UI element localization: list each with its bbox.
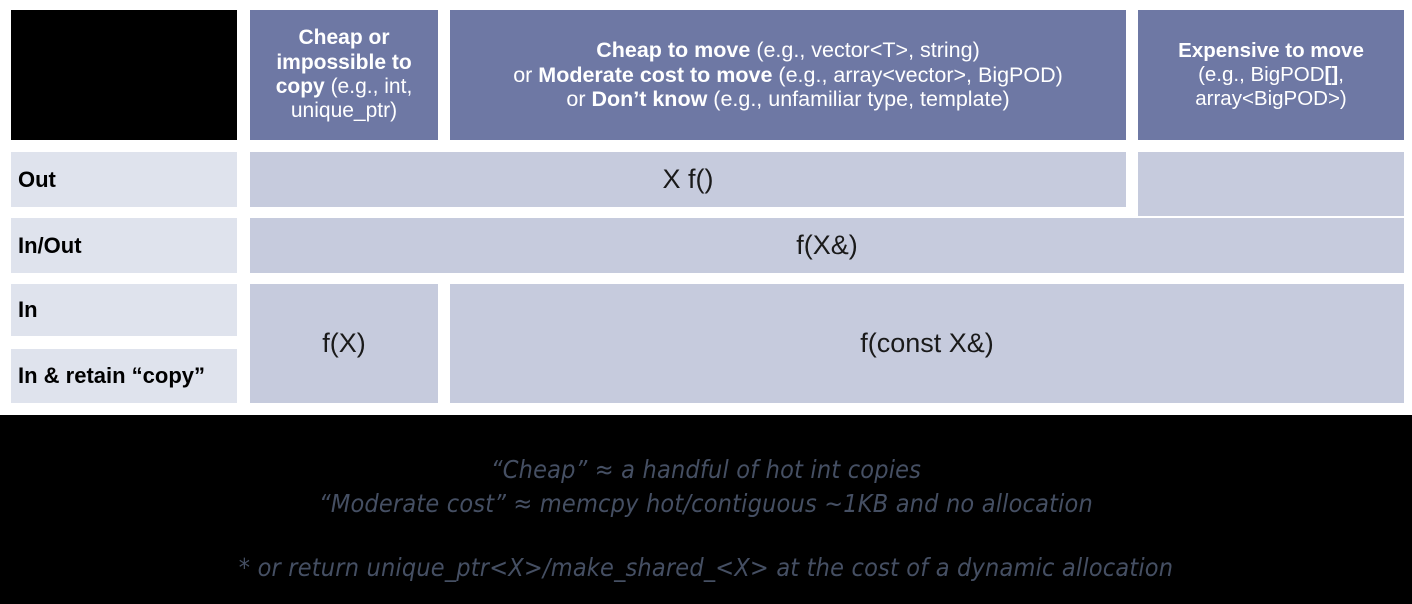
header-line-text: impossible to	[276, 51, 411, 74]
footnotes-panel: “Cheap” ≈ a handful of hot int copies “M…	[0, 415, 1412, 604]
footnote-moderate-cost-definition: “Moderate cost” ≈ memcpy hot/contiguous …	[0, 487, 1412, 522]
cell-out-return-by-value: X f()	[250, 152, 1126, 207]
row-label-out: Out	[11, 152, 237, 207]
header-line-note: (e.g., int,	[325, 75, 413, 98]
row-label-in-out: In/Out	[11, 218, 237, 273]
header-line-text: Don’t know	[591, 87, 707, 111]
row-label-text: In	[18, 297, 38, 323]
cell-in-out-by-reference: f(X&)	[250, 218, 1404, 273]
row-label-in: In	[11, 284, 237, 336]
header-line-prefix: or	[513, 63, 538, 87]
row-label-in-and-retain-copy: In & retain “copy”	[11, 349, 237, 403]
column-header-cheap-moderate-or-dont-know: Cheap to move (e.g., vector<T>, string) …	[450, 10, 1126, 140]
header-line-note: (e.g., unfamiliar type, template)	[707, 87, 1009, 111]
cell-text: f(X&)	[796, 230, 858, 261]
header-line-text: copy	[276, 75, 325, 98]
table-corner-cell	[11, 10, 237, 140]
row-label-text: In & retain “copy”	[18, 363, 205, 389]
header-line-comma: ,	[1338, 63, 1344, 86]
header-line-bracket: []	[1325, 63, 1339, 86]
parameter-passing-table: Cheap or impossible to copy (e.g., int, …	[0, 0, 1412, 415]
cell-in-by-value: f(X)	[250, 284, 438, 403]
cell-text: X f()	[663, 164, 714, 195]
row-label-text: In/Out	[18, 233, 82, 259]
header-line-note: (e.g., BigPOD	[1198, 63, 1324, 86]
cell-in-by-const-reference: f(const X&)	[450, 284, 1404, 403]
slide-root: Cheap or impossible to copy (e.g., int, …	[0, 0, 1412, 604]
header-line-note: (e.g., vector<T>, string)	[750, 38, 979, 62]
header-line-note: array<BigPOD>)	[1195, 87, 1347, 110]
column-header-expensive-to-move: Expensive to move (e.g., BigPOD[], array…	[1138, 10, 1404, 140]
header-line-note: (e.g., array<vector>, BigPOD)	[772, 63, 1062, 87]
column-header-cheap-or-impossible-to-copy: Cheap or impossible to copy (e.g., int, …	[250, 10, 438, 140]
footnote-cheap-definition: “Cheap” ≈ a handful of hot int copies	[0, 453, 1412, 488]
header-line-prefix: or	[566, 87, 591, 111]
cell-text: f(const X&)	[860, 328, 994, 359]
header-line-text: Expensive to move	[1178, 39, 1364, 62]
header-line-text: Moderate cost to move	[538, 63, 772, 87]
cell-out-expensive-to-move	[1138, 152, 1404, 216]
header-line-note: unique_ptr)	[291, 99, 397, 122]
header-line-text: Cheap or	[298, 26, 389, 49]
footnote-return-smart-pointer: * or return unique_ptr<X>/make_shared_<X…	[0, 551, 1412, 586]
row-label-text: Out	[18, 167, 56, 193]
header-line-text: Cheap to move	[596, 38, 750, 62]
cell-text: f(X)	[322, 328, 366, 359]
